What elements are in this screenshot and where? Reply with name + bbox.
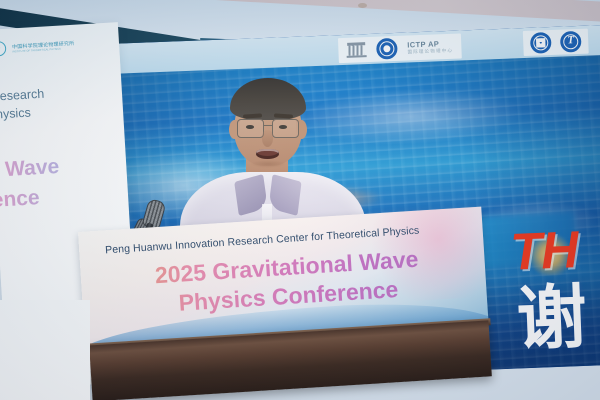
foreground-white-panel — [0, 300, 90, 400]
side-screen-logo-group: 中国科学院理论物理研究所 INSTITUTE OF THEORETICAL PH… — [0, 37, 75, 57]
thanks-english-text: TH — [509, 224, 578, 279]
speaker-mouth — [256, 149, 279, 159]
ictp-ap-label-group: ICTP AP 国际理论物理中心 — [407, 39, 453, 54]
screenshot-root: ICTP AP 国际理论物理中心 TH 谢 中国科学院理论物理研究所 INSTI… — [0, 0, 600, 400]
logo-strip-primary: ICTP AP 国际理论物理中心 — [338, 33, 461, 63]
t-letter-icon — [560, 31, 582, 53]
side-screen-title: ional Wave nference — [0, 147, 139, 218]
speaker-chin-shadow — [250, 160, 286, 168]
ceiling-spotlight — [358, 3, 367, 8]
ictp-ap-sublabel: 国际理论物理中心 — [407, 48, 453, 55]
side-screen-org-text: vation Research etical Physics — [0, 79, 135, 126]
thanks-chinese-text: 谢 — [516, 282, 589, 355]
lectern: Peng Huanwu Innovation Research Center f… — [78, 207, 492, 400]
logo-strip-secondary — [523, 29, 589, 56]
unesco-icon — [346, 41, 367, 59]
ceiling-band-beige — [179, 0, 600, 27]
speaker-nose — [262, 130, 273, 147]
snowflake-icon — [530, 32, 552, 54]
institute-logo-icon — [0, 41, 7, 57]
speaker-hair — [230, 78, 306, 120]
ictp-ap-icon — [376, 38, 398, 60]
